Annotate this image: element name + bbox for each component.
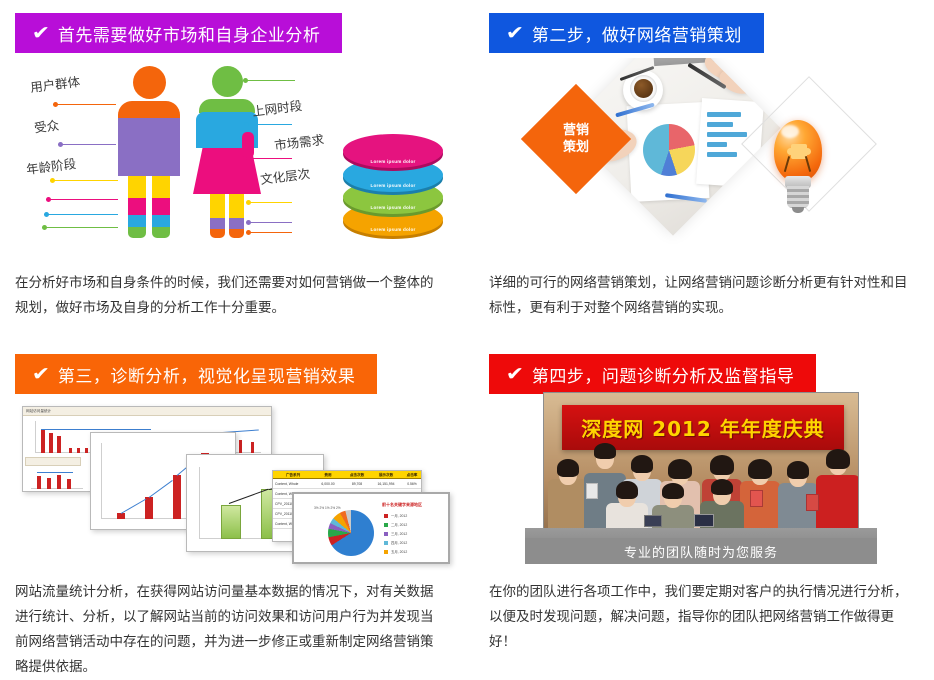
legend-label-2: 二月, 2012 bbox=[391, 522, 407, 527]
illustration-dashboards: 网站访问量统计 bbox=[8, 398, 460, 568]
coffee-liquid bbox=[634, 79, 653, 98]
panel-1-title: 网站访问量统计 bbox=[26, 409, 51, 414]
connector-line-3 bbox=[50, 180, 118, 181]
prop-tablet-1 bbox=[644, 515, 662, 527]
bar-5 bbox=[707, 152, 737, 157]
female-leg-right-1 bbox=[229, 194, 244, 218]
female-arm-right bbox=[242, 132, 254, 158]
photo-caption-bar: 专业的团队随时为您服务 bbox=[525, 538, 877, 564]
legend-label-5: 五月, 2012 bbox=[391, 549, 407, 554]
prop-gift-2 bbox=[806, 494, 819, 511]
check-icon: ✔ bbox=[32, 24, 50, 43]
panel-1-y-axis bbox=[35, 421, 36, 453]
bar-2 bbox=[707, 122, 733, 127]
label-online-time: 上网时段 bbox=[251, 95, 303, 120]
male-foot-left bbox=[128, 227, 146, 238]
legend-label-4: 四月, 2012 bbox=[391, 540, 407, 545]
legend-label-1: 一月, 2012 bbox=[391, 513, 407, 518]
label-age-stage: 年龄阶段 bbox=[25, 153, 77, 178]
header-bar-step-3: ✔ 第三，诊断分析，视觉化呈现营销效果 bbox=[15, 354, 377, 394]
panel-1-subchart bbox=[31, 469, 83, 489]
check-icon: ✔ bbox=[506, 365, 524, 384]
legend-swatch-5 bbox=[384, 550, 388, 554]
header-title-step-2: 第二步，做好网络营销策划 bbox=[532, 21, 742, 46]
female-foot-right bbox=[229, 229, 244, 238]
photo-caption-text: 专业的团队随时为您服务 bbox=[624, 542, 778, 561]
badge-line-1: 营销 bbox=[563, 122, 589, 139]
connector-line-6 bbox=[42, 227, 118, 228]
panel-5-title: 前十名关键字来源地区 bbox=[382, 502, 422, 508]
figure-female bbox=[196, 66, 258, 236]
body-text-step-3: 网站流量统计分析，在获得网站访问量基本数据的情况下，对有关数据进行统计、分析，以… bbox=[15, 580, 440, 680]
disc-4-label: Lorem ipsum dolor bbox=[343, 227, 443, 232]
label-culture-level: 文化层次 bbox=[259, 163, 311, 188]
card-step-4: ✔ 第四步，问题诊断分析及监督指导 深度网 2012 年年度庆典 bbox=[467, 340, 934, 679]
banner-text: 深度网 2012 年年度庆典 bbox=[581, 413, 825, 442]
disc-2-label: Lorem ipsum dolor bbox=[343, 183, 443, 188]
male-leg-left-1 bbox=[128, 176, 146, 198]
connector-line-7 bbox=[243, 80, 295, 81]
lightbulb-icon bbox=[767, 120, 829, 216]
header-title-step-4: 第四步，问题诊断分析及监督指导 bbox=[532, 362, 795, 387]
illustration-people-infographic: 用户群体 受众 年龄阶段 bbox=[0, 62, 467, 252]
panel-1-subtitle bbox=[25, 457, 81, 466]
pie-pct-labels: 3% 2% 1% 2% 2% bbox=[314, 506, 341, 510]
label-user-group: 用户群体 bbox=[29, 71, 81, 96]
label-audience: 受众 bbox=[33, 115, 60, 137]
header-bar-step-1: ✔ 首先需要做好市场和自身企业分析 bbox=[15, 13, 342, 53]
table-header-labels: 广告系列 费用 点击次数 展示次数 点击率 bbox=[273, 471, 422, 479]
legend-label-3: 三月, 2012 bbox=[391, 531, 407, 536]
bulb-tip bbox=[792, 207, 804, 213]
pie-chart-region bbox=[328, 510, 374, 556]
header-bar-step-2: ✔ 第二步，做好网络营销策划 bbox=[489, 13, 764, 53]
team-photo: 深度网 2012 年年度庆典 bbox=[543, 392, 859, 542]
connector-line-10 bbox=[246, 202, 292, 203]
body-text-step-2: 详细的可行的网络营销策划，让网络营销问题诊断分析更有针对性和目标性，更有利于对整… bbox=[489, 271, 909, 321]
legend-swatch-1 bbox=[384, 514, 388, 518]
card-step-2: ✔ 第二步，做好网络营销策划 bbox=[467, 0, 934, 339]
female-head bbox=[212, 66, 243, 97]
illustration-team-photo: 深度网 2012 年年度庆典 bbox=[525, 392, 877, 564]
badge-text: 营销 策划 bbox=[563, 122, 589, 156]
panel-region-share: 前十名关键字来源地区 一月, 2012 二月, 2012 三月, 2012 四月… bbox=[292, 492, 450, 564]
male-leg-right-3 bbox=[152, 215, 170, 227]
bar-3 bbox=[707, 132, 747, 137]
bulb-base bbox=[787, 186, 809, 208]
figure-male bbox=[118, 66, 180, 236]
header-title-step-3: 第三，诊断分析，视觉化呈现营销效果 bbox=[58, 362, 356, 387]
illustration-marketing-plan: 营销 策划 bbox=[479, 58, 924, 258]
legend-swatch-3 bbox=[384, 532, 388, 536]
disc-1-label: Lorem ipsum dolor bbox=[343, 159, 443, 164]
table-row: Content, Whole 6,000.00 89,708 16,151,99… bbox=[273, 480, 422, 489]
connector-line-12 bbox=[246, 232, 292, 233]
connector-line-11 bbox=[246, 222, 292, 223]
bulb-highlight bbox=[781, 125, 799, 138]
male-foot-right bbox=[152, 227, 170, 238]
male-head bbox=[133, 66, 166, 99]
check-icon: ✔ bbox=[506, 24, 524, 43]
male-seg-torso bbox=[118, 118, 180, 176]
body-text-step-1: 在分析好市场和自身条件的时候，我们还需要对如何营销做一个整体的规划，做好市场及自… bbox=[15, 271, 440, 321]
label-market-demand: 市场需求 bbox=[273, 129, 325, 154]
connector-line-8 bbox=[244, 124, 292, 125]
card-step-1: ✔ 首先需要做好市场和自身企业分析 用户群体 受众 年龄阶段 bbox=[0, 0, 467, 339]
page-grid: ✔ 首先需要做好市场和自身企业分析 用户群体 受众 年龄阶段 bbox=[0, 0, 934, 679]
legend-swatch-2 bbox=[384, 523, 388, 527]
connector-line-1 bbox=[53, 104, 116, 105]
header-bar-step-4: ✔ 第四步，问题诊断分析及监督指导 bbox=[489, 354, 816, 394]
bar-4 bbox=[707, 142, 727, 147]
female-leg-left-2 bbox=[210, 218, 225, 229]
male-leg-right-1 bbox=[152, 176, 170, 198]
bar-1 bbox=[707, 112, 741, 117]
connector-line-9 bbox=[242, 158, 292, 159]
connector-line-2 bbox=[58, 144, 116, 145]
female-foot-left bbox=[210, 229, 225, 238]
male-leg-left-2 bbox=[128, 198, 146, 215]
disc-1: Lorem ipsum dolor bbox=[343, 134, 443, 168]
panel-1-titlebar bbox=[23, 407, 272, 416]
header-title-step-1: 首先需要做好市场和自身企业分析 bbox=[58, 21, 321, 46]
male-seg-shoulders bbox=[118, 101, 180, 118]
stacked-discs: Lorem ipsum dolor Lorem ipsum dolor Lore… bbox=[343, 130, 443, 245]
legend-swatch-4 bbox=[384, 541, 388, 545]
female-leg-right-2 bbox=[229, 218, 244, 229]
male-leg-right-2 bbox=[152, 198, 170, 215]
male-leg-left-3 bbox=[128, 215, 146, 227]
female-seg-shoulders bbox=[199, 99, 255, 113]
connector-line-5 bbox=[44, 214, 118, 215]
prop-phone-1 bbox=[586, 483, 598, 499]
badge-line-2: 策划 bbox=[563, 139, 589, 156]
prop-tablet-2 bbox=[694, 514, 714, 527]
pie-chart bbox=[643, 124, 695, 176]
female-leg-left-1 bbox=[210, 194, 225, 218]
body-text-step-4: 在你的团队进行各项工作中，我们要定期对客户的执行情况进行分析，以便及时发现问题，… bbox=[489, 580, 909, 655]
connector-line-4 bbox=[46, 199, 118, 200]
check-icon: ✔ bbox=[32, 365, 50, 384]
prop-gift-1 bbox=[750, 490, 763, 507]
card-step-3: ✔ 第三，诊断分析，视觉化呈现营销效果 网站访问量统计 bbox=[0, 340, 467, 679]
disc-3-label: Lorem ipsum dolor bbox=[343, 205, 443, 210]
